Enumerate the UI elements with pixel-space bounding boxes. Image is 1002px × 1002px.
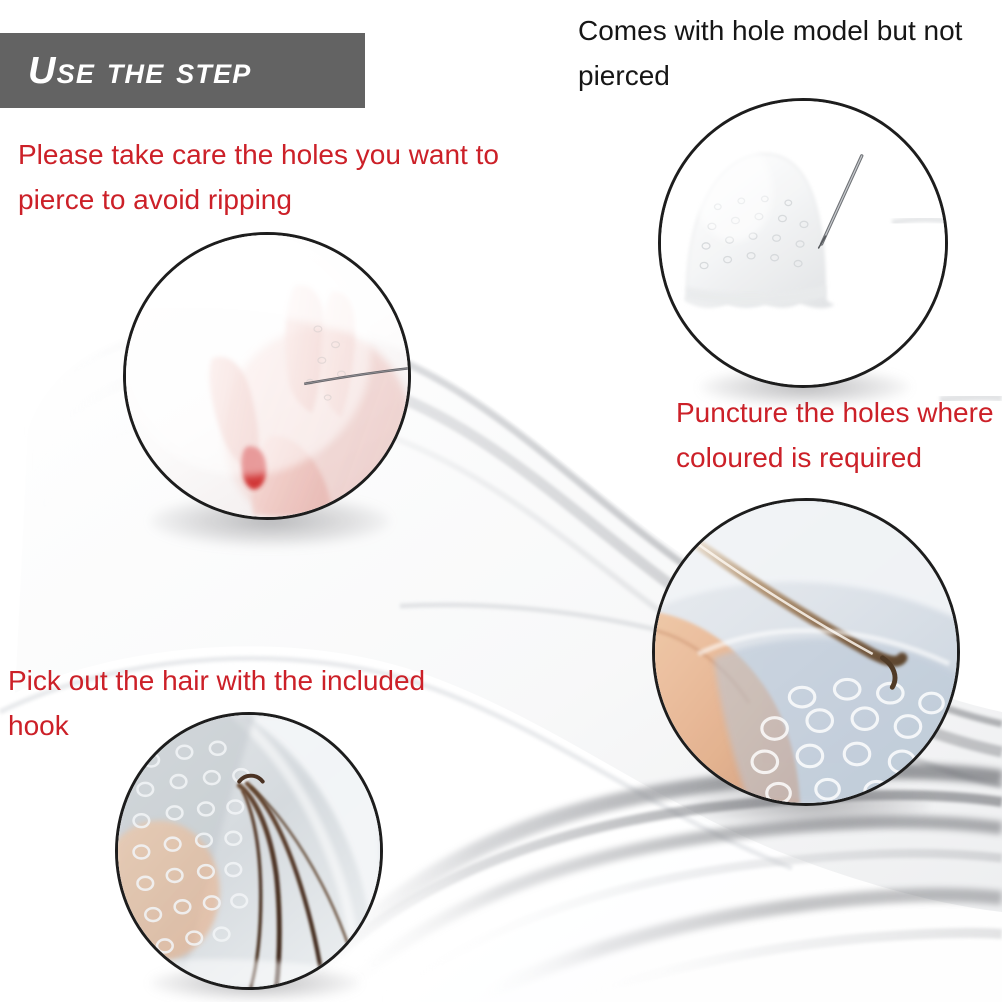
photo-pulling-hair-through (115, 712, 383, 990)
caption-mid-right-line-2: coloured is required (676, 435, 994, 480)
caption-bottom-left-line-1: Pick out the hair with the included (8, 658, 425, 703)
caption-top-right-line-2: pierced (578, 53, 962, 98)
section-title-banner: Use the step (0, 33, 365, 108)
photo-hand-behind-cap (123, 232, 411, 520)
caption-top-right-line-1: Comes with hole model but not (578, 8, 962, 53)
caption-top-left: Please take care the holes you want to p… (18, 132, 499, 223)
caption-top-left-line-1: Please take care the holes you want to (18, 132, 499, 177)
photo-cap-with-needle (658, 98, 948, 388)
page-title: Use the step (0, 52, 252, 90)
caption-top-left-line-2: pierce to avoid ripping (18, 177, 499, 222)
caption-mid-right: Puncture the holes where coloured is req… (676, 390, 994, 481)
caption-top-right: Comes with hole model but not pierced (578, 8, 962, 99)
caption-mid-right-line-1: Puncture the holes where (676, 390, 994, 435)
infographic-page: Use the step Please take care the holes … (0, 0, 1002, 1002)
photo-hook-puncturing-holes (652, 498, 960, 806)
